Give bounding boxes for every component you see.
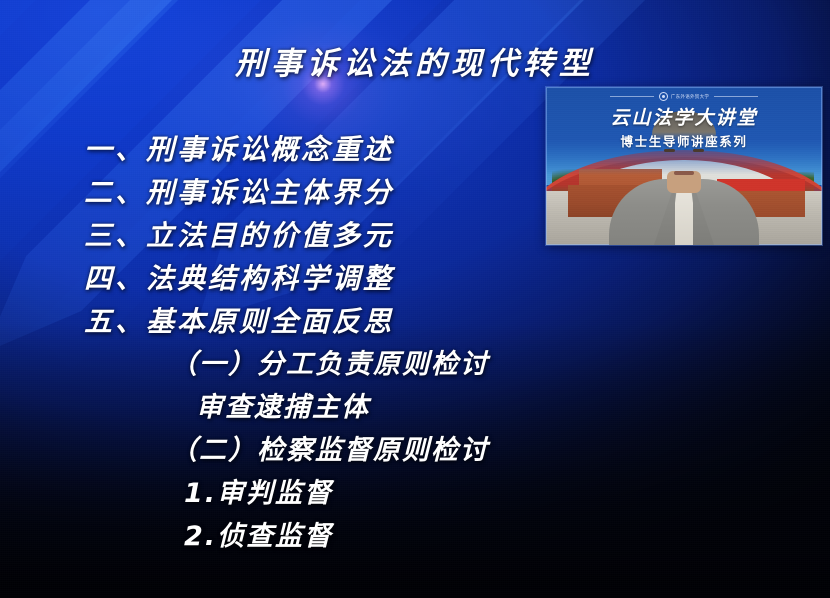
sub-item: （一）分工负责原则检讨 xyxy=(84,343,810,386)
outline-item: 五、基本原则全面反思 xyxy=(84,300,810,343)
outline-label: 基本原则全面反思 xyxy=(146,305,394,338)
outline-label: 法典结构科学调整 xyxy=(146,262,394,295)
outline-marker: 四、 xyxy=(84,257,146,300)
crest-rule-right xyxy=(714,96,758,97)
sub-item: 审查逮捕主体 xyxy=(84,386,810,429)
presentation-slide: 刑事诉讼法的现代转型 一、刑事诉讼概念重述 二、刑事诉讼主体界分 三、立法目的价… xyxy=(0,0,830,598)
seal-icon xyxy=(659,92,668,101)
speaker-mouth xyxy=(674,171,694,175)
outline-marker: 二、 xyxy=(84,171,146,214)
outline-label: 刑事诉讼主体界分 xyxy=(146,176,394,209)
video-banner-title: 云山法学大讲堂 xyxy=(546,103,822,130)
sub-item: 2.侦查监督 xyxy=(84,515,810,558)
video-banner: 广东外语外贸大学 云山法学大讲堂 博士生导师讲座系列 xyxy=(546,87,822,150)
sub-item: 1.审判监督 xyxy=(84,472,810,515)
outline-label: 立法目的价值多元 xyxy=(146,219,394,252)
university-crest-row: 广东外语外贸大学 xyxy=(546,92,822,101)
outline-label: 刑事诉讼概念重述 xyxy=(146,133,394,166)
speaker-lapel-right xyxy=(693,183,727,245)
video-banner-subtitle: 博士生导师讲座系列 xyxy=(546,131,822,150)
outline-marker: 三、 xyxy=(84,214,146,257)
sub-item: （二）检察监督原则检讨 xyxy=(84,429,810,472)
crest-rule-left xyxy=(610,96,654,97)
outline-item: 四、法典结构科学调整 xyxy=(84,257,810,300)
outline-marker: 一、 xyxy=(84,128,146,171)
crest-label: 广东外语外贸大学 xyxy=(671,94,709,100)
outline-marker: 五、 xyxy=(84,300,146,343)
speaker-video-overlay[interactable]: 广东外语外贸大学 云山法学大讲堂 博士生导师讲座系列 xyxy=(546,87,822,245)
page-title: 刑事诉讼法的现代转型 xyxy=(0,38,830,83)
university-crest: 广东外语外贸大学 xyxy=(659,92,709,101)
